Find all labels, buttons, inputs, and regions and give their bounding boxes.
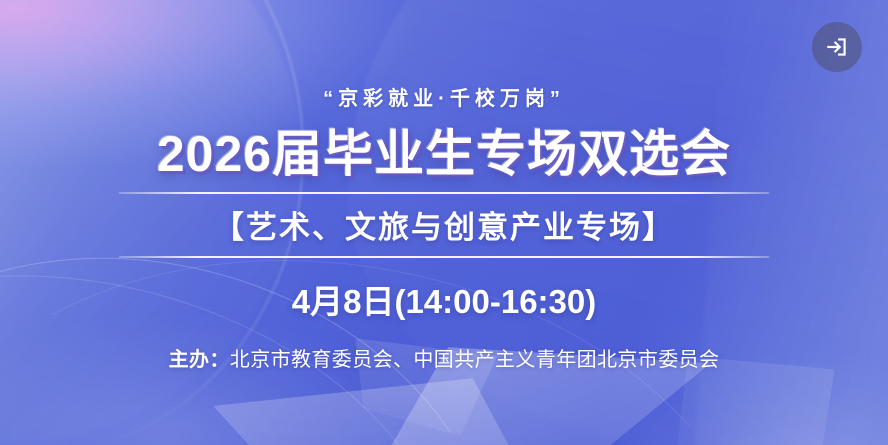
event-banner: “京彩就业·千校万岗” 2026届毕业生专场双选会 【艺术、文旅与创意产业专场】…	[0, 0, 888, 445]
enter-arrow-icon	[824, 34, 850, 60]
enter-button[interactable]	[812, 22, 862, 72]
